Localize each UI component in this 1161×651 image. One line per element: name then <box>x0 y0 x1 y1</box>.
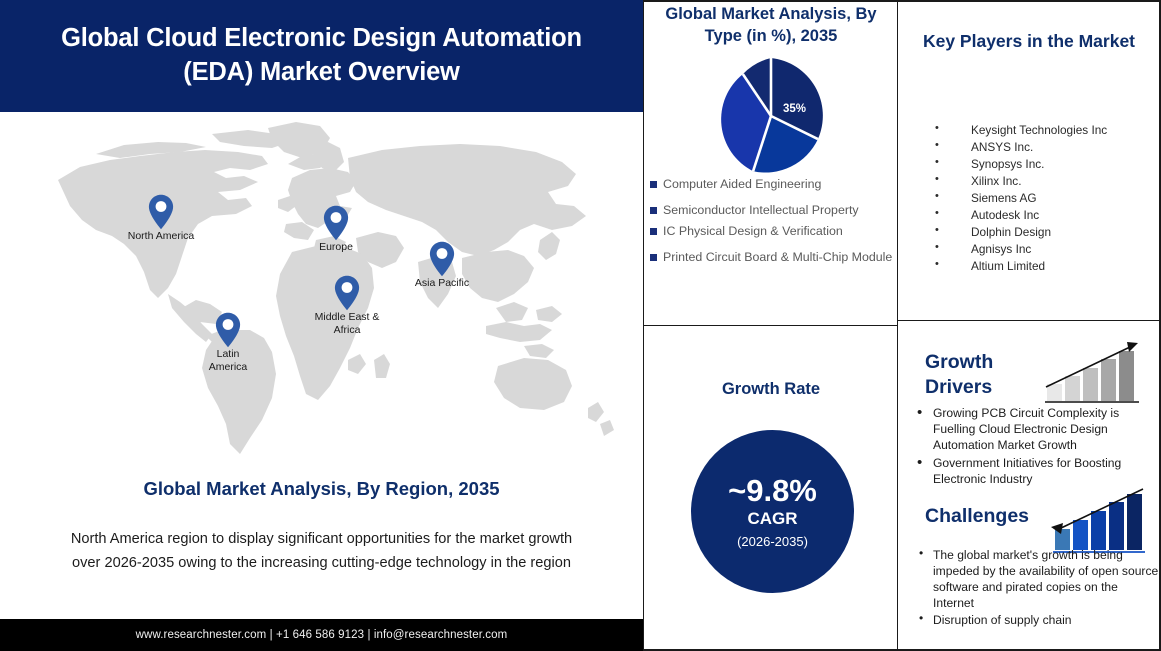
list-item: Government Initiatives for Boosting Elec… <box>903 456 1157 488</box>
key-players-title: Key Players in the Market <box>907 30 1151 53</box>
left-panel: Global Cloud Electronic Design Automatio… <box>0 0 643 651</box>
pie-data-label: 35% <box>783 103 806 115</box>
legend-label: IC Physical Design & Verification <box>663 223 843 240</box>
map-pin-europe[interactable]: Europe <box>323 205 349 241</box>
legend-swatch-icon <box>650 207 657 214</box>
region-analysis-title: Global Market Analysis, By Region, 2035 <box>0 478 643 500</box>
list-item: Dolphin Design <box>919 224 1151 240</box>
pie-chart-title: Global Market Analysis, By Type (in %), … <box>649 4 893 48</box>
region-analysis-description: North America region to display signific… <box>60 528 583 575</box>
map-pin-label: Asia Pacific <box>415 277 469 290</box>
pie-chart: 35% <box>711 56 831 176</box>
legend-label: Computer Aided Engineering <box>663 176 821 193</box>
cagr-unit: CAGR <box>747 509 797 529</box>
map-pin-north-america[interactable]: North America <box>148 194 174 230</box>
map-pin-middle-east-africa[interactable]: Middle East & Africa <box>334 275 360 311</box>
location-pin-icon <box>148 194 174 230</box>
list-item: Keysight Technologies Inc <box>919 122 1151 138</box>
legend-swatch-icon <box>650 228 657 235</box>
map-pin-label: Latin America <box>198 348 258 374</box>
map-pin-asia-pacific[interactable]: Asia Pacific <box>429 241 455 277</box>
right-panel: Key Players in the Market Keysight Techn… <box>899 0 1159 651</box>
legend-label: Printed Circuit Board & Multi-Chip Modul… <box>663 249 892 266</box>
legend-swatch-icon <box>650 254 657 261</box>
trend-arrow-up-icon <box>1127 342 1138 352</box>
growth-rate-title: Growth Rate <box>649 380 893 399</box>
location-pin-icon <box>323 205 349 241</box>
list-item: Xilinx Inc. <box>919 173 1151 189</box>
legend-label: Semiconductor Intellectual Property <box>663 202 859 219</box>
list-item: Disruption of supply chain <box>903 613 1159 629</box>
pie-chart-svg <box>711 56 831 176</box>
location-pin-icon <box>215 312 241 348</box>
legend-item: IC Physical Design & Verification <box>650 223 896 240</box>
key-players-list: Keysight Technologies Inc ANSYS Inc. Syn… <box>919 122 1151 275</box>
legend-item: Printed Circuit Board & Multi-Chip Modul… <box>650 249 896 266</box>
infographic-root: Global Cloud Electronic Design Automatio… <box>0 0 1161 651</box>
middle-panel: Global Market Analysis, By Type (in %), … <box>644 0 898 651</box>
map-pin-latin-america[interactable]: Latin America <box>215 312 241 348</box>
map-pin-label: Middle East & Africa <box>302 311 392 337</box>
list-item: Agnisys Inc <box>919 241 1151 257</box>
world-map: North America Europe A <box>0 112 643 470</box>
pie-legend: Computer Aided Engineering Semiconductor… <box>650 176 896 265</box>
location-pin-icon <box>429 241 455 277</box>
legend-item: Semiconductor Intellectual Property <box>650 202 896 219</box>
list-item: Autodesk Inc <box>919 207 1151 223</box>
world-map-svg <box>0 112 643 470</box>
header-band: Global Cloud Electronic Design Automatio… <box>0 0 643 112</box>
growth-drivers-bar-chart <box>1043 340 1147 408</box>
list-item: The global market's growth is being impe… <box>903 548 1159 612</box>
legend-swatch-icon <box>650 181 657 188</box>
list-item: Altium Limited <box>919 258 1151 274</box>
map-pin-label: Europe <box>319 241 353 254</box>
list-item: Synopsys Inc. <box>919 156 1151 172</box>
cagr-value: ~9.8% <box>728 475 817 506</box>
footer-band: www.researchnester.com | +1 646 586 9123… <box>0 619 643 651</box>
list-item: Growing PCB Circuit Complexity is Fuelli… <box>903 406 1157 454</box>
location-pin-icon <box>334 275 360 311</box>
map-pin-label: North America <box>128 230 195 243</box>
page-title: Global Cloud Electronic Design Automatio… <box>0 22 643 89</box>
cagr-period: (2026-2035) <box>737 534 808 549</box>
growth-drivers-list: Growing PCB Circuit Complexity is Fuelli… <box>903 406 1157 490</box>
cagr-badge: ~9.8% CAGR (2026-2035) <box>691 430 854 593</box>
list-item: ANSYS Inc. <box>919 139 1151 155</box>
legend-item: Computer Aided Engineering <box>650 176 896 193</box>
growth-drivers-title: Growth Drivers <box>925 350 1045 400</box>
growth-drivers-chart-svg <box>1043 340 1147 408</box>
challenges-list: The global market's growth is being impe… <box>903 548 1159 630</box>
list-item: Siemens AG <box>919 190 1151 206</box>
footer-contact-text: www.researchnester.com | +1 646 586 9123… <box>136 629 508 641</box>
